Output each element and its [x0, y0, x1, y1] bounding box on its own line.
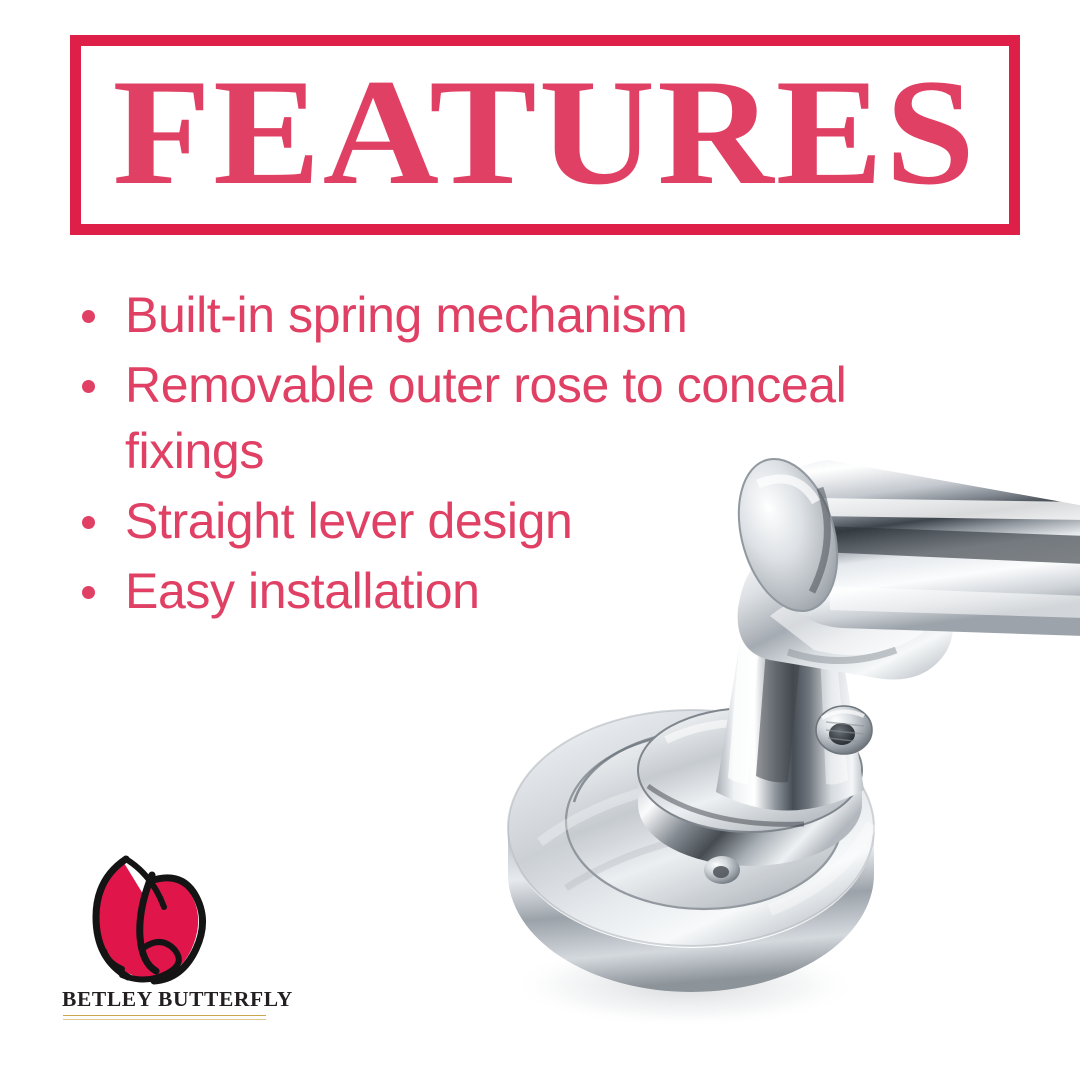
butterfly-icon	[80, 845, 210, 985]
bullet-icon	[82, 310, 95, 323]
title-frame: FEATURES	[70, 35, 1020, 235]
brand-logo: BETLEY BUTTERFLY	[62, 845, 272, 1035]
logo-divider-secondary	[63, 1019, 266, 1020]
grub-screw	[816, 706, 872, 754]
bullet-icon	[82, 586, 95, 599]
list-item: Built-in spring mechanism	[82, 282, 982, 348]
feature-label: Removable outer rose to conceal fixings	[125, 352, 982, 484]
bullet-icon	[82, 380, 95, 393]
bullet-icon	[82, 516, 95, 529]
feature-label: Straight lever design	[125, 488, 572, 554]
list-item: Straight lever design	[82, 488, 982, 554]
list-item: Removable outer rose to conceal fixings	[82, 352, 982, 484]
brand-wordmark: BETLEY BUTTERFLY	[62, 987, 272, 1012]
fixing-screw	[704, 856, 740, 884]
list-item: Easy installation	[82, 558, 982, 624]
feature-label: Easy installation	[125, 558, 480, 624]
features-card: FEATURES Built-in spring mechanism Remov…	[0, 0, 1080, 1080]
logo-divider	[63, 1015, 266, 1016]
features-list: Built-in spring mechanism Removable oute…	[82, 282, 982, 628]
feature-label: Built-in spring mechanism	[125, 282, 687, 348]
page-title: FEATURES	[113, 56, 977, 208]
